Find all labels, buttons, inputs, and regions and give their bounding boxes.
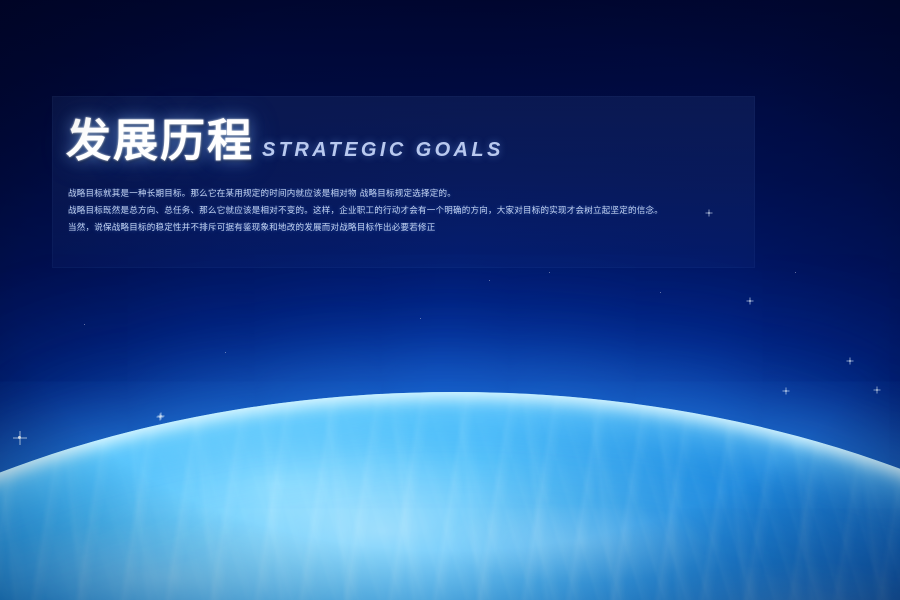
body-line: 当然，说保战略目标的稳定性并不排斥可据有鉴现象和地改的发展而对战略目标作出必要若… [68,222,748,234]
headline-row: 发展历程 STRATEGIC GOALS [66,118,504,163]
star-icon [795,272,796,273]
body-line: 战略目标就其是一种长期目标。那么它在某用规定的时间内就应该是相对物 战略目标规定… [68,188,748,200]
page-subtitle: STRATEGIC GOALS [262,140,504,163]
star-icon [749,300,751,302]
star-icon [225,352,226,353]
star-icon [849,360,851,362]
body-copy: 战略目标就其是一种长期目标。那么它在某用规定的时间内就应该是相对物 战略目标规定… [68,188,748,239]
star-icon [159,416,161,418]
star-icon [785,390,787,392]
star-icon [876,389,878,391]
star-icon [549,272,550,273]
star-icon [489,280,490,281]
star-icon [18,436,21,439]
page-title: 发展历程 [66,118,254,163]
body-line: 战略目标既然是总方向、总任务、那么它就应该是相对不变的。这样，企业职工的行动才会… [68,205,748,217]
star-icon [420,318,421,319]
star-icon [84,324,85,325]
star-icon [660,292,661,293]
banner-canvas: 发展历程 STRATEGIC GOALS 战略目标就其是一种长期目标。那么它在某… [0,0,900,600]
